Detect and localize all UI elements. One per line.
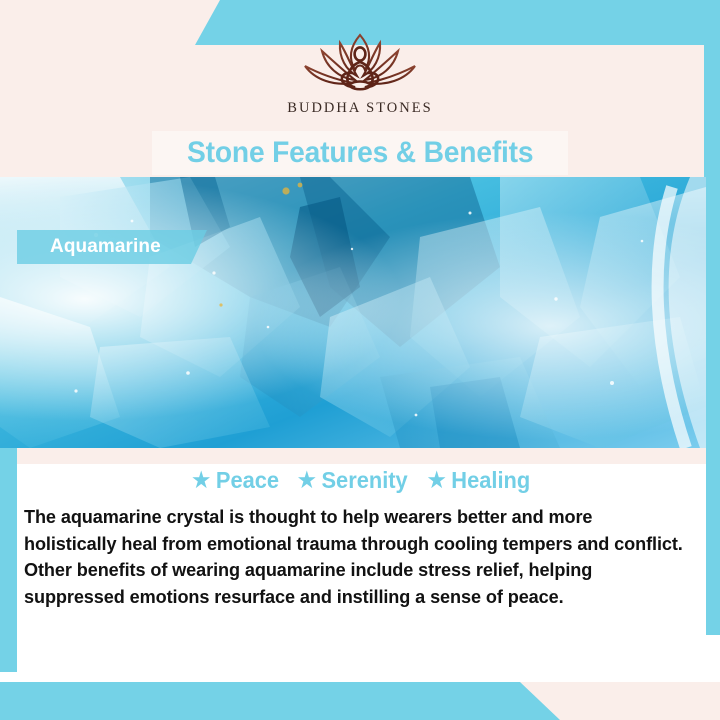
decorative-band-right-notch xyxy=(704,424,720,448)
benefit-label-healing: Healing xyxy=(451,467,530,494)
benefit-item-healing: ★ Healing xyxy=(428,467,531,494)
brand-name: BUDDHA STONES xyxy=(287,100,432,117)
lotus-meditation-icon xyxy=(285,26,435,98)
aquamarine-crystal-photo xyxy=(0,177,706,448)
brand-logo: BUDDHA STONES xyxy=(0,26,720,117)
stone-name-label: Aquamarine xyxy=(17,236,161,258)
star-icon: ★ xyxy=(192,470,210,491)
star-icon: ★ xyxy=(428,470,446,491)
decorative-band-right xyxy=(704,45,720,635)
decorative-band-bottom xyxy=(0,682,560,720)
benefit-label-peace: Peace xyxy=(216,467,279,494)
cream-separator xyxy=(17,448,706,464)
benefits-row: ★ Peace ★ Serenity ★ Healing xyxy=(17,467,706,494)
content-area: ★ Peace ★ Serenity ★ Healing The aquamar… xyxy=(17,464,706,682)
page-title-band: Stone Features & Benefits xyxy=(152,131,568,175)
benefit-label-serenity: Serenity xyxy=(322,467,408,494)
page-title: Stone Features & Benefits xyxy=(187,136,533,170)
star-icon: ★ xyxy=(298,470,316,491)
benefit-item-serenity: ★ Serenity xyxy=(298,467,408,494)
description-text: The aquamarine crystal is thought to hel… xyxy=(24,504,688,610)
stone-benefits-poster: BUDDHA STONES Stone Features & Benefits xyxy=(0,0,720,720)
crystal-image-art xyxy=(0,177,706,448)
benefit-item-peace: ★ Peace xyxy=(192,467,279,494)
stone-name-tag: Aquamarine xyxy=(17,230,207,264)
